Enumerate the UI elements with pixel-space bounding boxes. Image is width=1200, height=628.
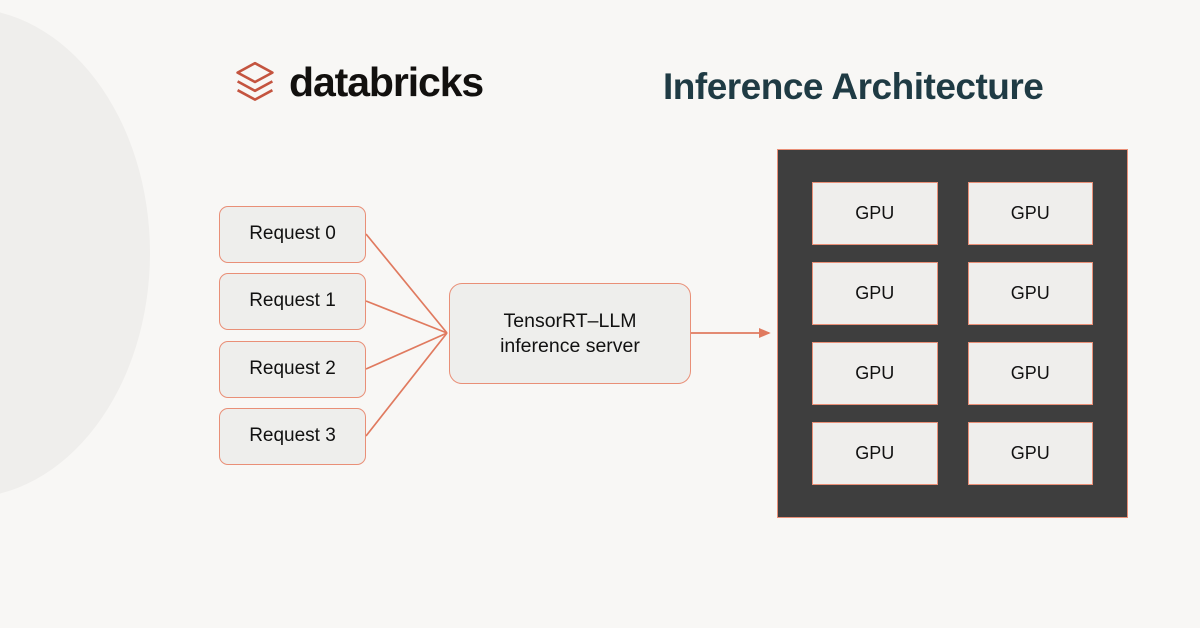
request-box-2: Request 2: [219, 341, 366, 398]
request-box-3: Request 3: [219, 408, 366, 465]
gpu-label: GPU: [1011, 203, 1050, 224]
request-label: Request 3: [249, 424, 336, 448]
connector-request-3-to-server: [366, 333, 447, 436]
request-box-0: Request 0: [219, 206, 366, 263]
gpu-label: GPU: [855, 203, 894, 224]
background-circle-decoration: [0, 8, 150, 498]
connector-request-1-to-server: [366, 301, 447, 333]
gpu-box: GPU: [968, 342, 1094, 405]
databricks-logo-icon: [234, 60, 276, 104]
connector-request-0-to-server: [366, 234, 447, 333]
gpu-label: GPU: [855, 443, 894, 464]
server-label-line-1: TensorRT–LLM: [500, 309, 640, 334]
request-label: Request 2: [249, 357, 336, 381]
gpu-label: GPU: [855, 283, 894, 304]
gpu-box: GPU: [968, 422, 1094, 485]
gpu-label: GPU: [1011, 283, 1050, 304]
gpu-cluster: GPU GPU GPU GPU GPU GPU GPU GPU: [777, 149, 1128, 518]
inference-server-box: TensorRT–LLM inference server: [449, 283, 691, 384]
gpu-box: GPU: [812, 422, 938, 485]
server-label-line-2: inference server: [500, 334, 640, 359]
request-label: Request 0: [249, 222, 336, 246]
request-box-1: Request 1: [219, 273, 366, 330]
databricks-wordmark: databricks: [289, 62, 483, 103]
request-label: Request 1: [249, 289, 336, 313]
gpu-box: GPU: [812, 182, 938, 245]
gpu-box: GPU: [968, 262, 1094, 325]
gpu-label: GPU: [1011, 443, 1050, 464]
connector-request-2-to-server: [366, 333, 447, 369]
gpu-label: GPU: [855, 363, 894, 384]
page-title: Inference Architecture: [663, 66, 1043, 108]
diagram-canvas: databricks Inference Architecture Reques…: [0, 0, 1200, 628]
gpu-label: GPU: [1011, 363, 1050, 384]
gpu-box: GPU: [812, 262, 938, 325]
gpu-box: GPU: [812, 342, 938, 405]
databricks-logo-lockup: databricks: [234, 60, 483, 104]
gpu-box: GPU: [968, 182, 1094, 245]
